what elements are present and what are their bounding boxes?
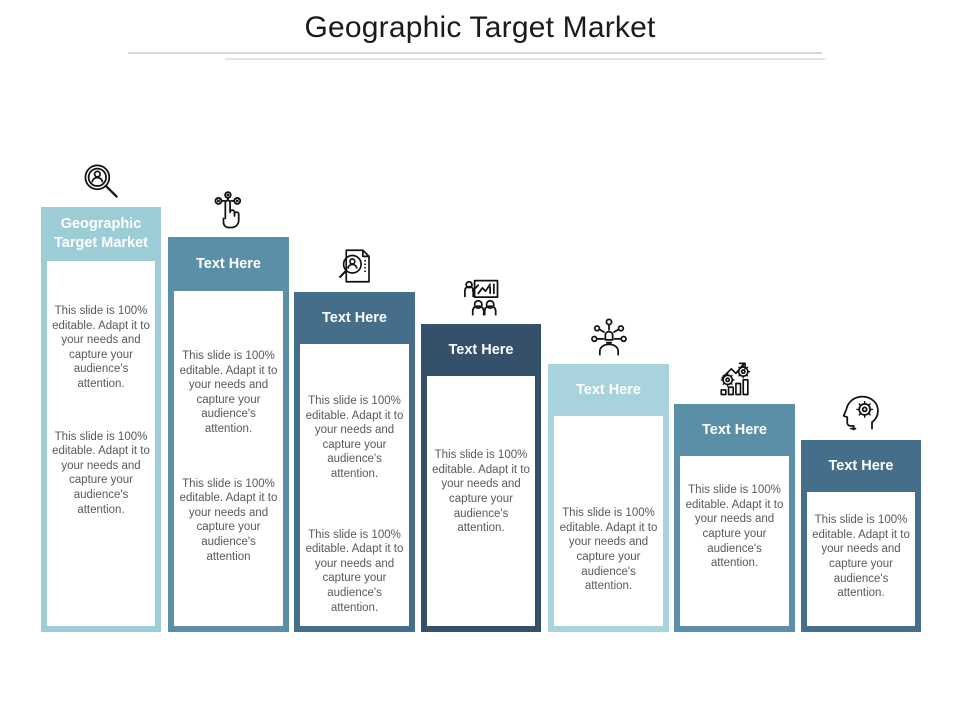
column-1-header-label: Geographic Target Market (47, 215, 155, 253)
column-1-body: This slide is 100% editable. Adapt it to… (41, 261, 161, 632)
column-6-body: This slide is 100% editable. Adapt it to… (674, 456, 795, 632)
staircase-column-6[interactable]: Text Here This slide is 100% editable. A… (674, 352, 795, 632)
presentation-audience-icon (453, 272, 509, 324)
column-4-header[interactable]: Text Here (421, 324, 541, 376)
column-2-body: This slide is 100% editable. Adapt it to… (168, 291, 289, 632)
column-5-body: This slide is 100% editable. Adapt it to… (548, 416, 669, 632)
staircase-column-1[interactable]: Geographic Target Market This slide is 1… (41, 155, 161, 632)
column-3-body: This slide is 100% editable. Adapt it to… (294, 344, 415, 632)
column-1-text-2: This slide is 100% editable. Adapt it to… (49, 430, 153, 518)
gears-growth-chart-icon (707, 352, 763, 404)
column-1-text-1: This slide is 100% editable. Adapt it to… (49, 304, 153, 392)
staircase-column-5[interactable]: Text Here This slide is 100% editable. A… (548, 312, 669, 632)
column-4-header-label: Text Here (448, 341, 513, 360)
staircase-column-7[interactable]: Text Here This slide is 100% editable. A… (801, 388, 921, 632)
column-7-header-label: Text Here (828, 457, 893, 476)
column-3-text-2: This slide is 100% editable. Adapt it to… (302, 528, 407, 616)
column-5-header-label: Text Here (576, 381, 641, 400)
staircase-column-2[interactable]: Text Here This slide is 100% editable. A… (168, 185, 289, 632)
column-2-text-2: This slide is 100% editable. Adapt it to… (176, 477, 281, 565)
column-2-text-1: This slide is 100% editable. Adapt it to… (176, 349, 281, 437)
column-1-header[interactable]: Geographic Target Market (41, 207, 161, 261)
staircase-column-4[interactable]: Text Here This slide is 100% editable. A… (421, 272, 541, 632)
column-5-text-1: This slide is 100% editable. Adapt it to… (556, 506, 661, 594)
document-profile-search-icon (327, 240, 383, 292)
column-3-header[interactable]: Text Here (294, 292, 415, 344)
column-4-text-1: This slide is 100% editable. Adapt it to… (429, 448, 533, 536)
column-7-header[interactable]: Text Here (801, 440, 921, 492)
staircase-column-3[interactable]: Text Here This slide is 100% editable. A… (294, 240, 415, 632)
column-6-header[interactable]: Text Here (674, 404, 795, 456)
column-2-header[interactable]: Text Here (168, 237, 289, 291)
column-4-body: This slide is 100% editable. Adapt it to… (421, 376, 541, 632)
magnifier-person-icon (73, 155, 129, 207)
person-network-idea-icon (581, 312, 637, 364)
staircase-diagram: Geographic Target Market This slide is 1… (0, 0, 960, 720)
hand-pointer-arrows-icon (201, 185, 257, 237)
column-3-header-label: Text Here (322, 309, 387, 328)
head-gear-icon (833, 388, 889, 440)
column-6-text-1: This slide is 100% editable. Adapt it to… (682, 483, 787, 571)
column-6-header-label: Text Here (702, 421, 767, 440)
column-7-text-1: This slide is 100% editable. Adapt it to… (809, 513, 913, 601)
column-7-body: This slide is 100% editable. Adapt it to… (801, 492, 921, 632)
column-5-header[interactable]: Text Here (548, 364, 669, 416)
column-3-text-1: This slide is 100% editable. Adapt it to… (302, 394, 407, 482)
column-2-header-label: Text Here (196, 255, 261, 274)
